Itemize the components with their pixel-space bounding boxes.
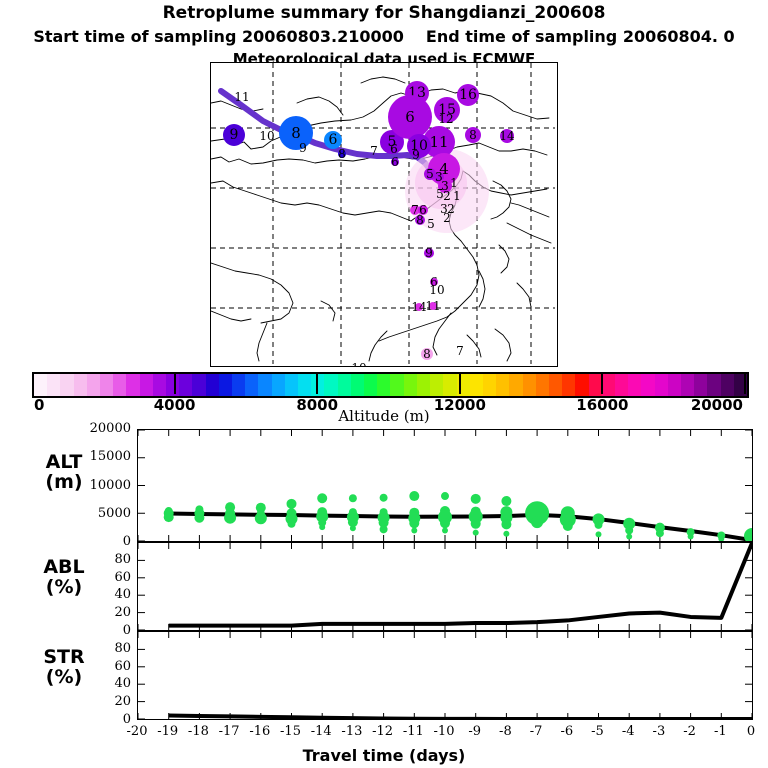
alt-data-point xyxy=(255,512,267,524)
timeseries-stack xyxy=(137,429,753,720)
colorbar-swatch xyxy=(615,374,628,396)
map-marker-label: 8 xyxy=(423,347,431,361)
colorbar-swatch xyxy=(483,374,496,396)
colorbar-swatch xyxy=(192,374,205,396)
alt-data-point xyxy=(194,513,204,523)
y-tick-label: 60 xyxy=(69,659,131,674)
y-tick-label: 80 xyxy=(69,552,131,567)
alt-plot xyxy=(138,430,752,541)
colorbar-swatch xyxy=(285,374,298,396)
map-marker-label: 8 xyxy=(416,213,424,227)
map-marker-label: 5 xyxy=(427,217,435,231)
alt-data-point xyxy=(409,491,419,501)
colorbar-swatch xyxy=(140,374,153,396)
alt-data-point xyxy=(409,518,419,528)
colorbar-swatch xyxy=(298,374,311,396)
alt-data-point xyxy=(473,530,479,536)
map-marker-label: 5 xyxy=(426,167,434,181)
alt-data-point xyxy=(440,518,450,528)
colorbar-swatch xyxy=(34,374,47,396)
str-panel[interactable] xyxy=(137,631,753,720)
colorbar-swatch xyxy=(417,374,430,396)
alt-data-point xyxy=(350,525,356,531)
colorbar-swatch xyxy=(668,374,681,396)
colorbar-swatch xyxy=(47,374,60,396)
x-tick-label: 0 xyxy=(731,724,768,739)
alt-data-point xyxy=(411,527,417,533)
map-marker-label: 2 xyxy=(443,211,451,225)
colorbar-swatch xyxy=(100,374,113,396)
colorbar-swatch xyxy=(364,374,377,396)
abl-plot xyxy=(138,543,752,630)
alt-data-point xyxy=(688,534,694,540)
colorbar-separator xyxy=(174,372,176,394)
alt-data-point xyxy=(224,512,236,524)
alt-data-point xyxy=(501,519,511,529)
colorbar-swatch xyxy=(232,374,245,396)
map-marker-label: 6 xyxy=(405,108,415,126)
y-tick-label: 10000 xyxy=(69,478,131,493)
colorbar-swatch xyxy=(404,374,417,396)
alt-data-point xyxy=(442,527,448,533)
colorbar-swatch xyxy=(351,374,364,396)
colorbar-swatch xyxy=(589,374,602,396)
map-marker-label: 6 xyxy=(391,155,399,169)
colorbar-swatch xyxy=(562,374,575,396)
map-marker-label: 7 xyxy=(456,344,464,358)
alt-data-point xyxy=(380,494,388,502)
alt-data-point xyxy=(563,521,573,531)
map-marker-label: 9 xyxy=(230,127,239,143)
alt-data-point xyxy=(164,512,174,522)
map-marker-label: 9 xyxy=(412,148,420,162)
alt-data-point xyxy=(595,521,603,529)
map-marker-label: 7 xyxy=(370,144,378,158)
alt-data-point xyxy=(380,525,388,533)
alt-data-point xyxy=(531,516,543,528)
colorbar-swatch xyxy=(602,374,615,396)
alt-data-point xyxy=(656,529,664,537)
colorbar-swatch xyxy=(338,374,351,396)
alt-data-point xyxy=(317,493,327,503)
y-tick-label: 80 xyxy=(69,641,131,656)
colorbar-swatch xyxy=(377,374,390,396)
map-marker-label: 8 xyxy=(469,128,477,142)
sampling-time-row: Start time of sampling 20060803.210000 E… xyxy=(0,27,768,46)
alt-data-point xyxy=(503,531,509,537)
colorbar-swatch xyxy=(655,374,668,396)
map-marker-label: 10 xyxy=(351,361,366,367)
colorbar-swatch xyxy=(272,374,285,396)
colorbar-swatch xyxy=(113,374,126,396)
map-marker-label: 6 xyxy=(390,142,398,156)
map-marker-label: 12 xyxy=(284,366,299,367)
colorbar-swatch xyxy=(549,374,562,396)
y-tick-label: 5000 xyxy=(69,506,131,521)
end-time-label: End time of sampling 20060804. 0 xyxy=(426,27,735,46)
colorbar-swatch xyxy=(206,374,219,396)
colorbar-swatch xyxy=(430,374,443,396)
colorbar-separator xyxy=(601,372,603,394)
colorbar-separator xyxy=(316,372,318,394)
colorbar-swatch xyxy=(707,374,720,396)
str-plot xyxy=(138,632,752,719)
alt-data-point xyxy=(319,524,325,530)
y-tick-label: 40 xyxy=(69,587,131,602)
y-tick-label: 60 xyxy=(69,570,131,585)
abl-panel[interactable] xyxy=(137,542,753,631)
colorbar-swatch xyxy=(443,374,456,396)
map-marker-label: 11 xyxy=(429,133,448,151)
colorbar-swatch xyxy=(536,374,549,396)
colorbar-swatch xyxy=(496,374,509,396)
colorbar-swatch xyxy=(523,374,536,396)
colorbar-swatch xyxy=(575,374,588,396)
map-marker-label: 11 xyxy=(234,90,249,104)
x-axis-title: Travel time (days) xyxy=(0,746,768,765)
colorbar-swatch xyxy=(324,374,337,396)
map-marker-label: 1 xyxy=(450,176,458,190)
alt-data-point xyxy=(288,520,296,528)
map-panel[interactable]: 1191086987566131661512781411109453315217… xyxy=(210,62,558,367)
colorbar-swatch xyxy=(470,374,483,396)
colorbar-swatch xyxy=(681,374,694,396)
map-marker-label: 11 xyxy=(425,299,440,313)
alt-data-point xyxy=(287,499,297,509)
map-marker-label: 1 xyxy=(453,189,461,203)
map-marker-label: 8 xyxy=(291,124,301,142)
map-marker-label: 14 xyxy=(499,129,514,143)
y-tick-label: 40 xyxy=(69,676,131,691)
map-marker-label: 12 xyxy=(438,112,453,126)
start-time-label: Start time of sampling 20060803.210000 xyxy=(33,27,404,46)
y-tick-label: 20 xyxy=(69,694,131,709)
colorbar-swatch xyxy=(87,374,100,396)
colorbar-swatch xyxy=(721,374,734,396)
colorbar-swatch xyxy=(509,374,522,396)
colorbar-swatch xyxy=(694,374,707,396)
colorbar-swatch xyxy=(258,374,271,396)
alt-data-point xyxy=(625,526,633,534)
map-coastlines xyxy=(211,63,555,364)
colorbar-swatch xyxy=(628,374,641,396)
alt-data-point xyxy=(626,534,632,540)
colorbar-swatch xyxy=(245,374,258,396)
colorbar[interactable] xyxy=(32,372,749,398)
colorbar-swatch xyxy=(179,374,192,396)
alt-data-point xyxy=(501,496,511,506)
colorbar-swatch xyxy=(219,374,232,396)
y-tick-label: 0 xyxy=(69,534,131,549)
map-marker-label: 16 xyxy=(459,87,477,103)
y-tick-label: 0 xyxy=(69,623,131,638)
colorbar-swatch xyxy=(60,374,73,396)
colorbar-swatch xyxy=(153,374,166,396)
map-marker-label: 2 xyxy=(443,189,451,203)
map-marker-label: 10 xyxy=(259,129,274,143)
colorbar-swatch xyxy=(74,374,87,396)
alt-data-point xyxy=(349,494,357,502)
map-marker-label: 10 xyxy=(429,283,444,297)
map-marker-label: 8 xyxy=(338,147,346,161)
alt-data-point xyxy=(471,494,481,504)
map-marker-label: 14 xyxy=(411,300,426,314)
alt-panel[interactable] xyxy=(137,429,753,542)
colorbar-separator xyxy=(744,372,746,394)
colorbar-separator xyxy=(459,372,461,394)
map-marker-label: 9 xyxy=(425,246,433,260)
colorbar-swatch xyxy=(390,374,403,396)
y-tick-label: 15000 xyxy=(69,449,131,464)
map-marker-label: 6 xyxy=(329,132,338,148)
y-tick-label: 20 xyxy=(69,605,131,620)
alt-data-point xyxy=(596,531,602,537)
colorbar-swatch xyxy=(641,374,654,396)
y-tick-label: 20000 xyxy=(69,421,131,436)
alt-data-point xyxy=(471,519,481,529)
map-marker-label: 9 xyxy=(299,141,307,155)
alt-data-point xyxy=(441,492,449,500)
colorbar-swatch xyxy=(126,374,139,396)
page-title: Retroplume summary for Shangdianzi_20060… xyxy=(0,3,768,23)
